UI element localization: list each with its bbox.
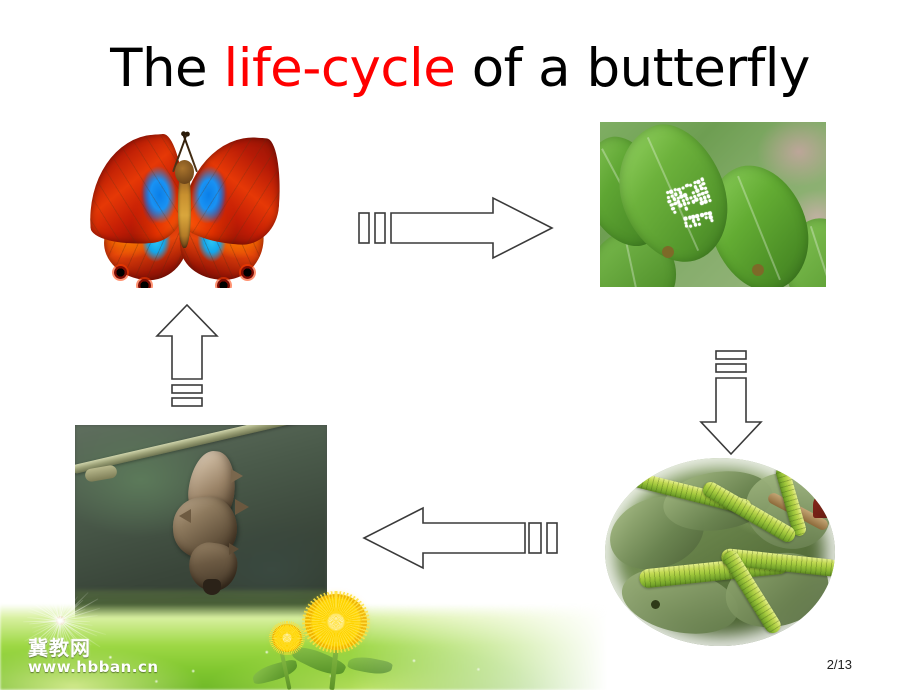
butterfly-eyespot	[138, 279, 151, 288]
stem-node	[752, 264, 764, 276]
page-number: 2/13	[827, 657, 852, 672]
butterfly-eyespot	[241, 266, 254, 279]
chrysalis	[171, 451, 245, 591]
dandelion-bud	[272, 624, 302, 652]
butterfly-eyespot	[217, 279, 230, 288]
chrysalis-tail	[203, 579, 221, 595]
butterfly-egg	[684, 207, 688, 211]
title-suffix: of a butterfly	[455, 38, 810, 99]
butterfly-egg	[689, 224, 693, 228]
stem-node	[662, 246, 674, 258]
butterfly-egg	[669, 190, 673, 194]
butterfly-egg	[694, 197, 698, 201]
butterfly-egg	[688, 183, 692, 187]
butterfly-upper-wing-left	[84, 133, 187, 247]
image-adult-butterfly	[78, 116, 290, 288]
background-blur-spot	[813, 492, 835, 518]
butterfly-egg	[681, 186, 685, 190]
arrow-eggs-to-caterpillars-icon	[700, 350, 762, 456]
watermark-site-name: 冀教网	[28, 638, 159, 659]
arrow-chrysalis-to-butterfly-icon	[156, 303, 218, 407]
dandelion-flower	[305, 594, 367, 650]
title-prefix: The	[110, 38, 223, 99]
butterfly-egg	[684, 224, 688, 228]
butterfly-egg	[683, 217, 687, 221]
arrow-butterfly-to-eggs-icon	[358, 196, 554, 260]
butterfly-egg	[698, 222, 702, 226]
butterfly-illustration	[78, 116, 290, 288]
butterfly-egg	[708, 198, 712, 202]
butterfly-egg	[672, 210, 676, 214]
butterfly-egg	[696, 218, 700, 222]
chrysalis-spike	[179, 509, 191, 523]
butterfly-eyespot	[114, 266, 127, 279]
slide-canvas: The life-cycle of a butterfly	[0, 0, 920, 690]
chrysalis-spike	[231, 469, 243, 483]
chrysalis-spike	[235, 499, 249, 515]
watermark: 冀教网 www.hbban.cn	[28, 638, 159, 676]
image-butterfly-eggs-on-leaf	[600, 122, 826, 287]
chrysalis-spike	[229, 543, 239, 555]
butterfly-egg	[701, 182, 705, 186]
butterfly-upper-wing-right	[180, 133, 283, 247]
watermark-url: www.hbban.cn	[28, 660, 159, 676]
page-title: The life-cycle of a butterfly	[0, 38, 920, 99]
title-highlight: life-cycle	[224, 38, 456, 99]
butterfly-egg	[678, 203, 682, 207]
arrow-caterpillars-to-chrysalis-icon	[362, 506, 558, 570]
butterfly-egg	[686, 201, 690, 205]
butterfly-head	[175, 160, 194, 184]
